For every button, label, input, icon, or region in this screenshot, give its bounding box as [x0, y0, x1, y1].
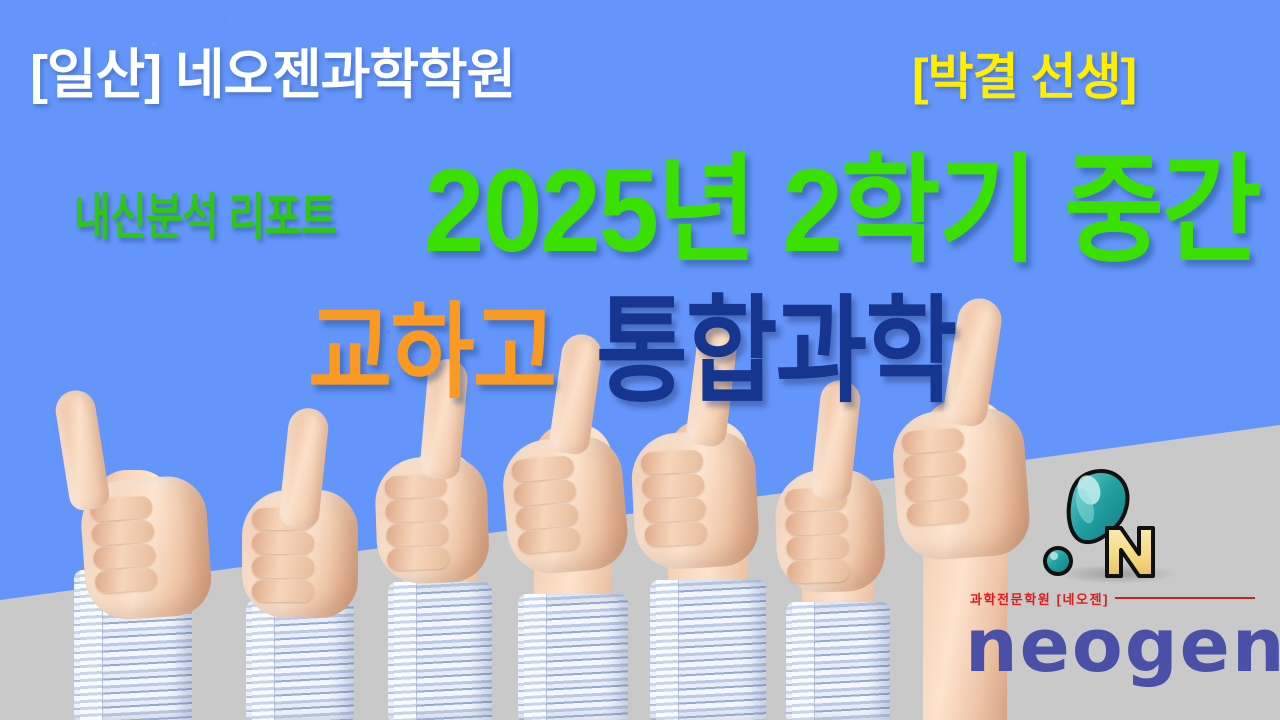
logo-wordmark: neogen: [965, 606, 1265, 686]
shirt-cuff: [246, 600, 354, 720]
knuckles: [384, 474, 449, 572]
school-name: 교하고: [308, 294, 555, 412]
cuff-button: [663, 624, 671, 632]
academy-name-title: [일산] 네오젠과학학원: [30, 44, 515, 106]
subject-name: 통합과학: [596, 288, 955, 414]
logo-rule-line: [1115, 597, 1255, 599]
headline-line-subject: 교하고 통합과학: [0, 288, 1280, 428]
term-title: 2025년 2학기 중간: [424, 146, 1260, 276]
cuff-button: [259, 644, 267, 652]
cuff-button: [531, 638, 539, 646]
knuckles: [901, 428, 970, 528]
knuckles: [784, 487, 849, 585]
knuckles: [511, 455, 581, 556]
neogen-logo: 과학전문학원 [네오젠] neogen: [965, 466, 1265, 696]
cuff-button: [87, 614, 95, 622]
knuckles: [640, 450, 707, 549]
poster-canvas: [일산] 네오젠과학학원 [박결 선생] 내신분석 리포트 2025년 2학기 …: [0, 0, 1280, 720]
neogen-mark-icon: [1015, 466, 1195, 586]
knuckles: [89, 495, 158, 595]
headline-line-term: 내신분석 리포트 2025년 2학기 중간: [0, 150, 1280, 290]
cuff-button: [401, 626, 409, 634]
cuff-button: [799, 646, 807, 654]
teacher-name-badge: [박결 선생]: [912, 48, 1136, 106]
report-label: 내신분석 리포트: [74, 188, 336, 246]
